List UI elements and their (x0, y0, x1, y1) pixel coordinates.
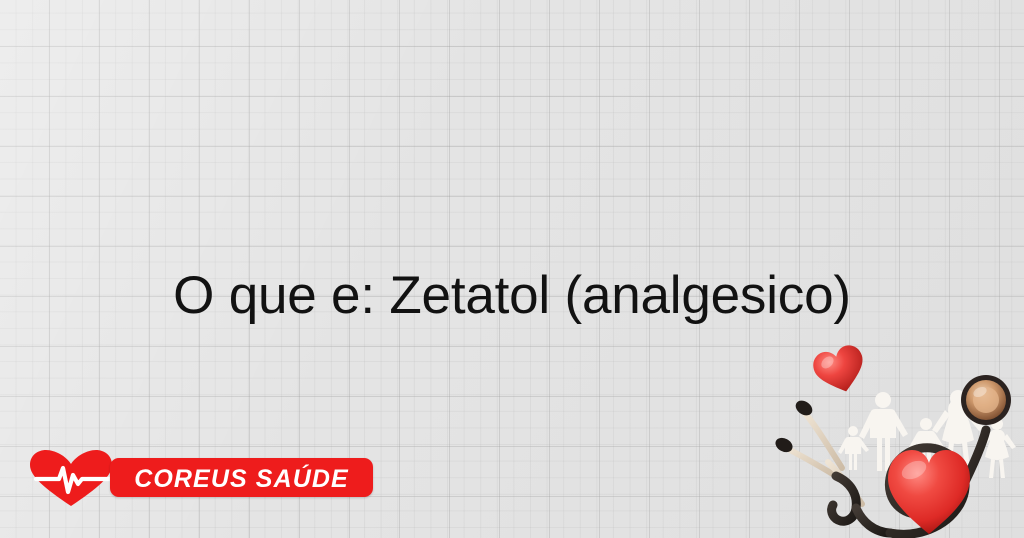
medical-illustration-group (770, 342, 1024, 538)
slide-canvas: O que e: Zetatol (analgesico) COREUS SAÚ… (0, 0, 1024, 538)
brand-name-label: COREUS SAÚDE (110, 465, 373, 494)
brand-badge: COREUS SAÚDE (110, 458, 373, 497)
page-title: O que e: Zetatol (analgesico) (0, 267, 1024, 325)
heart-small-icon (810, 342, 870, 398)
heart-pulse-icon (28, 448, 114, 508)
brand-logo: COREUS SAÚDE (28, 446, 348, 510)
chestpiece-icon (961, 375, 1011, 425)
